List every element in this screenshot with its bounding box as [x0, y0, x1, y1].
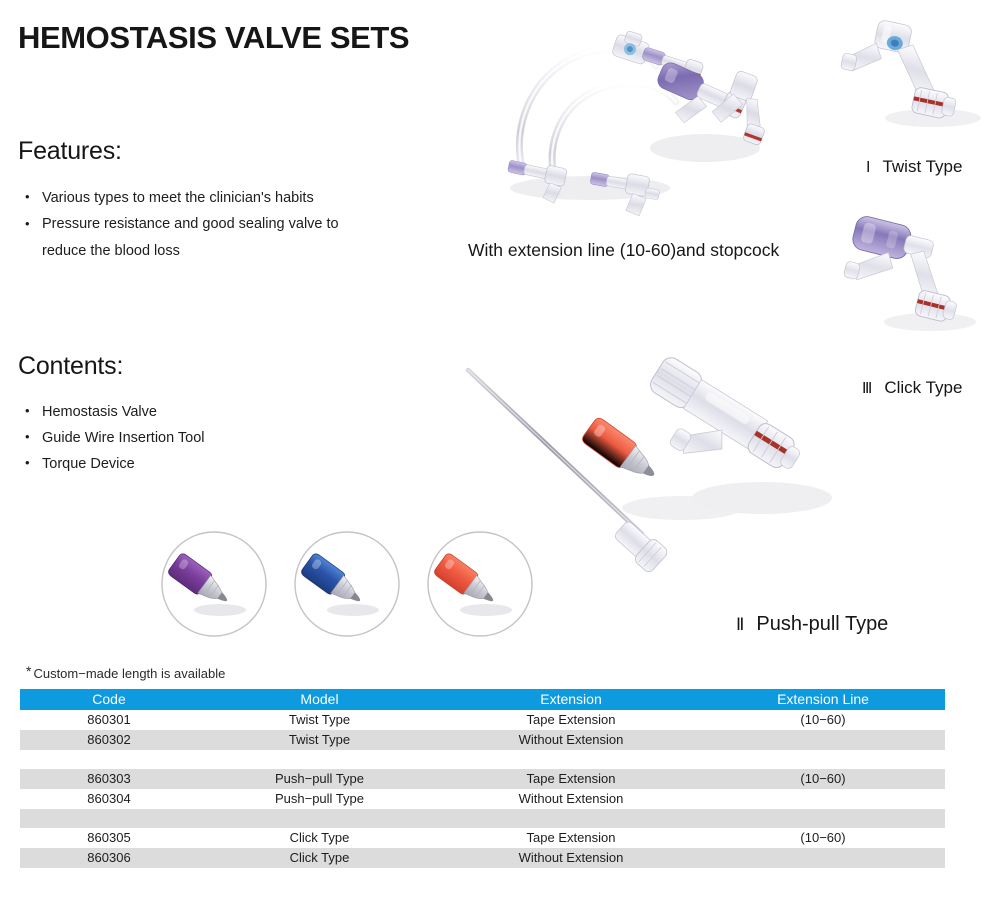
- column-header-code: Code: [20, 689, 198, 710]
- cell-extension: Without Extension: [441, 848, 701, 868]
- feature-item: Various types to meet the clinician's ha…: [24, 185, 339, 211]
- cell-extension-line: (10−60): [701, 710, 945, 730]
- cell-code: 860301: [20, 710, 198, 730]
- product-photo-extension-line-stopcock: [470, 8, 800, 236]
- roman-numeral-two: Ⅱ: [736, 615, 745, 635]
- cell-code: 860303: [20, 769, 198, 789]
- cell-extension: Without Extension: [441, 789, 701, 809]
- roman-numeral-three: Ⅲ: [862, 379, 873, 397]
- specification-table: Code Model Extension Extension Line 8603…: [20, 689, 945, 868]
- table-body: 860301 Twist Type Tape Extension (10−60)…: [20, 710, 945, 868]
- table-row: 860305 Click Type Tape Extension (10−60): [20, 828, 945, 848]
- torque-device-blue: [293, 530, 401, 638]
- table-row: 860302 Twist Type Without Extension: [20, 730, 945, 750]
- content-item: Torque Device: [24, 451, 205, 477]
- cell-extension-line: (10−60): [701, 769, 945, 789]
- table-row: 860301 Twist Type Tape Extension (10−60): [20, 710, 945, 730]
- cell-extension: Tape Extension: [441, 769, 701, 789]
- table-row: 860306 Click Type Without Extension: [20, 848, 945, 868]
- table-row: 860303 Push−pull Type Tape Extension (10…: [20, 769, 945, 789]
- cell-extension-line: [701, 809, 945, 828]
- feature-item: Pressure resistance and good sealing val…: [24, 211, 339, 265]
- cell-extension: Without Extension: [441, 730, 701, 750]
- asterisk-icon: *: [26, 663, 31, 679]
- cell-extension-line: [701, 789, 945, 809]
- cell-model: Click Type: [198, 828, 441, 848]
- cell-code: 860304: [20, 789, 198, 809]
- cell-extension-line: [701, 750, 945, 769]
- cell-code: [20, 809, 198, 828]
- table-header-row: Code Model Extension Extension Line: [20, 689, 945, 710]
- label-twist-type-text: Twist Type: [882, 157, 962, 176]
- contents-heading: Contents:: [18, 352, 123, 381]
- custom-length-note-text: Custom−made length is available: [33, 666, 225, 681]
- product-photo-twist-type: [838, 6, 1000, 146]
- cell-extension: Tape Extension: [441, 710, 701, 730]
- features-list: Various types to meet the clinician's ha…: [24, 185, 339, 265]
- cell-code: 860302: [20, 730, 198, 750]
- cell-model: Push−pull Type: [198, 789, 441, 809]
- column-header-model: Model: [198, 689, 441, 710]
- custom-length-note: *Custom−made length is available: [26, 663, 225, 681]
- cell-code: 860306: [20, 848, 198, 868]
- column-header-extension: Extension: [441, 689, 701, 710]
- label-click-type-text: Click Type: [884, 378, 962, 397]
- contents-list: Hemostasis Valve Guide Wire Insertion To…: [24, 399, 205, 477]
- column-header-extension-line: Extension Line: [701, 689, 945, 710]
- cell-model: Twist Type: [198, 730, 441, 750]
- content-item: Hemostasis Valve: [24, 399, 205, 425]
- product-photo-click-type: [838, 196, 1000, 346]
- caption-extension-line-stopcock: With extension line (10-60)and stopcock: [468, 240, 779, 261]
- cell-model: Push−pull Type: [198, 769, 441, 789]
- cell-model: [198, 750, 441, 769]
- torque-device-orange: [426, 530, 534, 638]
- torque-device-gallery: [160, 520, 580, 650]
- label-click-type: ⅢClick Type: [862, 378, 962, 398]
- cell-model: Twist Type: [198, 710, 441, 730]
- label-push-pull-type: ⅡPush-pull Type: [736, 613, 888, 636]
- label-twist-type: ⅠTwist Type: [866, 157, 962, 177]
- roman-numeral-one: Ⅰ: [866, 158, 871, 176]
- torque-device-purple: [160, 530, 268, 638]
- content-item: Guide Wire Insertion Tool: [24, 425, 205, 451]
- cell-extension-line: (10−60): [701, 828, 945, 848]
- table-row: 860304 Push−pull Type Without Extension: [20, 789, 945, 809]
- cell-code: [20, 750, 198, 769]
- table-spacer-row: [20, 750, 945, 769]
- cell-extension: Tape Extension: [441, 828, 701, 848]
- cell-extension-line: [701, 848, 945, 868]
- cell-model: Click Type: [198, 848, 441, 868]
- cell-extension: [441, 809, 701, 828]
- cell-model: [198, 809, 441, 828]
- features-heading: Features:: [18, 137, 122, 166]
- page-title: HEMOSTASIS VALVE SETS: [18, 20, 409, 56]
- label-push-pull-type-text: Push-pull Type: [756, 613, 888, 635]
- cell-extension: [441, 750, 701, 769]
- cell-code: 860305: [20, 828, 198, 848]
- cell-extension-line: [701, 730, 945, 750]
- table-spacer-row: [20, 809, 945, 828]
